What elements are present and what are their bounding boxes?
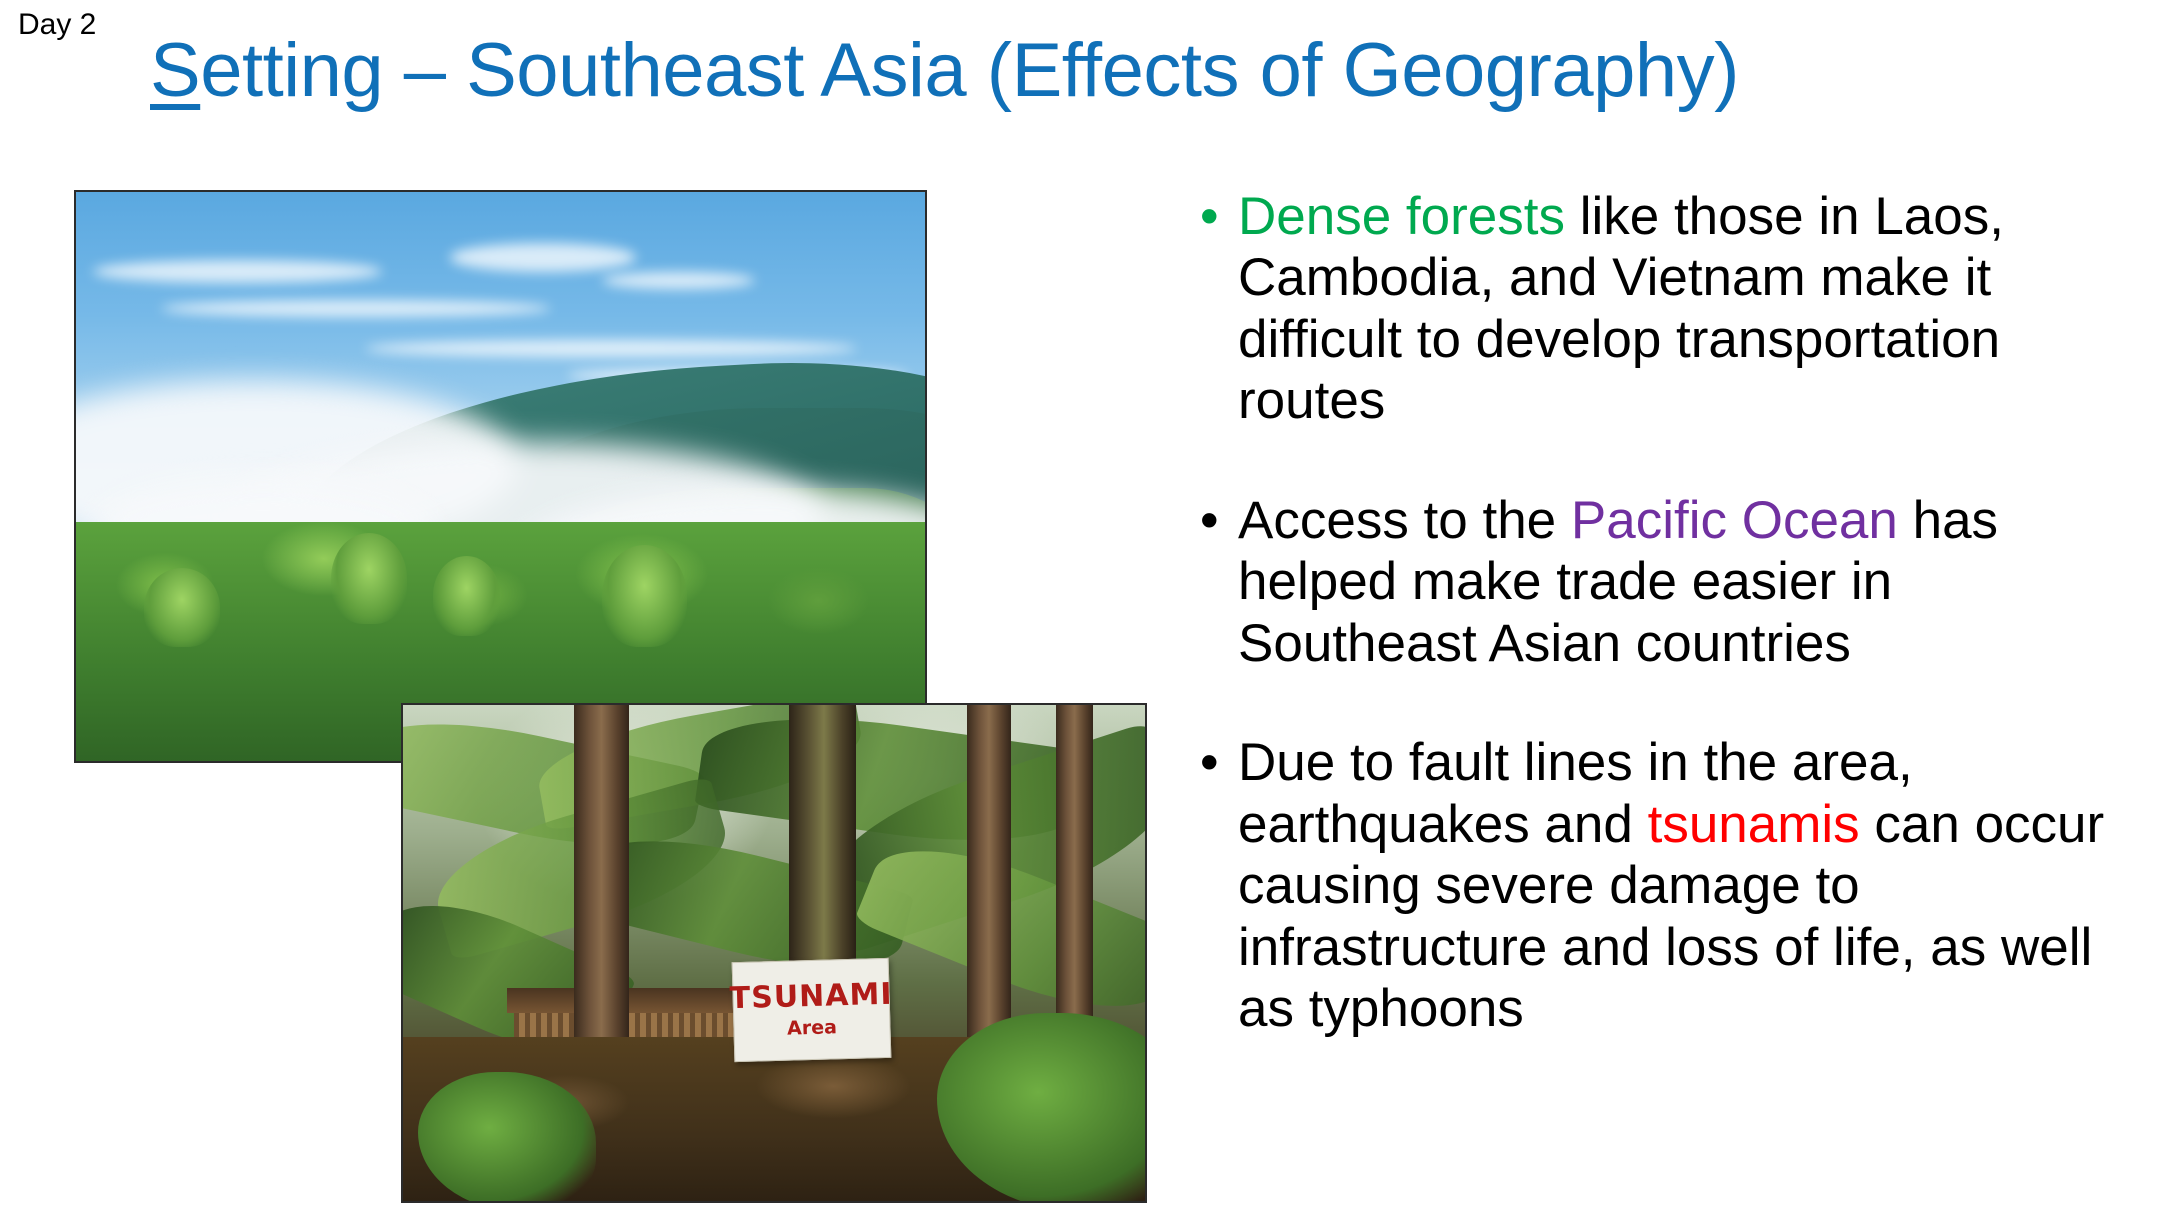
cloud-streak-icon — [93, 260, 382, 283]
highlight-dense-forests: Dense forests — [1238, 187, 1565, 246]
tsunami-area-sign: TSUNAMI Area — [732, 958, 892, 1062]
list-item: • Access to the Pacific Ocean has helped… — [1200, 490, 2140, 674]
emergent-tree — [331, 533, 407, 624]
list-item: • Dense forests like those in Laos, Camb… — [1200, 186, 2140, 432]
hut-roof — [507, 988, 759, 1013]
bullet-list: • Dense forests like those in Laos, Camb… — [1200, 186, 2140, 1040]
title-first-letter: S — [150, 28, 200, 113]
palm-trunk — [1056, 705, 1093, 1022]
bullet-marker-icon: • — [1200, 186, 1238, 247]
bullet-text: Due to fault lines in the area, earthqua… — [1238, 732, 2140, 1039]
bullet-text: Dense forests like those in Laos, Cambod… — [1238, 186, 2140, 432]
highlight-tsunamis: tsunamis — [1648, 795, 1860, 854]
list-item: • Due to fault lines in the area, earthq… — [1200, 732, 2140, 1039]
emergent-tree — [433, 556, 501, 636]
bullet-body-text: Access to the — [1238, 491, 1571, 550]
bullet-marker-icon: • — [1200, 490, 1238, 551]
rainforest-photo-canvas — [76, 192, 925, 761]
bullet-text: Access to the Pacific Ocean has helped m… — [1238, 490, 2140, 674]
emergent-tree — [144, 568, 220, 648]
highlight-pacific-ocean: Pacific Ocean — [1571, 491, 1898, 550]
tsunami-sign-sub-text: Area — [787, 1018, 837, 1038]
tsunami-photo-canvas: TSUNAMI Area — [403, 705, 1145, 1201]
tsunami-sign-main-text: TSUNAMI — [729, 980, 893, 1015]
title-rest: etting – Southeast Asia (Effects of Geog… — [200, 28, 1739, 113]
cloud-streak-icon — [602, 272, 755, 289]
emergent-tree — [602, 545, 687, 647]
cloud-streak-icon — [450, 243, 637, 271]
page-title: Setting – Southeast Asia (Effects of Geo… — [150, 28, 2110, 113]
day-label: Day 2 — [18, 8, 96, 41]
rainforest-mountains-photo — [74, 190, 927, 763]
tsunami-area-sign-photo: TSUNAMI Area — [401, 703, 1147, 1203]
bullet-marker-icon: • — [1200, 732, 1238, 793]
cloud-streak-icon — [365, 340, 857, 357]
